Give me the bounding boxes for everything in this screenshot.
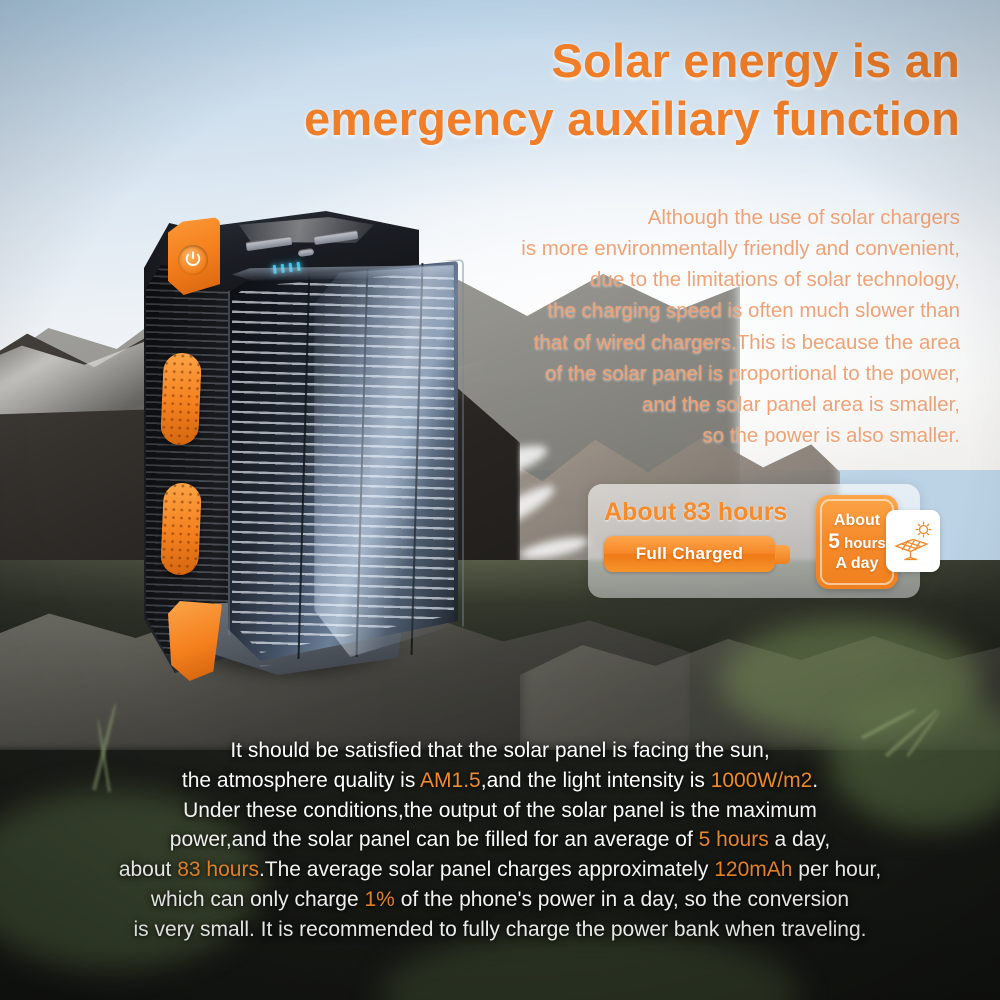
charge-time-title: About 83 hours — [604, 500, 804, 525]
intro-line-3: due to the limitations of solar technolo… — [370, 264, 960, 295]
outro-text: It should be satisfied that the solar pa… — [230, 739, 769, 762]
outro-line-7: is very small. It is recommended to full… — [20, 915, 980, 945]
outro-text: power,and the solar panel can be filled … — [170, 828, 699, 851]
outro-line-6: which can only charge 1% of the phone's … — [20, 885, 980, 915]
outro-text: which can only charge — [151, 888, 365, 911]
badge-hours-unit: hours — [844, 535, 886, 552]
charge-time-card: About 83 hours Full Charged About 5 hour… — [588, 484, 920, 598]
intro-line-7: and the solar panel area is smaller, — [370, 389, 960, 420]
outro-text: a day, — [769, 828, 830, 851]
power-button[interactable] — [178, 245, 208, 275]
outro-line-3: Under these conditions,the output of the… — [20, 796, 980, 826]
outro-text: Under these conditions,the output of the… — [183, 799, 817, 822]
battery-indicator: Full Charged — [604, 536, 789, 572]
outro-text: of the phone's power in a day, so the co… — [395, 888, 849, 911]
outro-highlight: 5 hours — [699, 828, 769, 851]
badge-line-a-day: A day — [836, 555, 879, 573]
outro-paragraph: It should be satisfied that the solar pa… — [20, 736, 980, 945]
outro-highlight: 1000W/m2 — [711, 769, 813, 792]
outro-line-5: about 83 hours.The average solar panel c… — [20, 855, 980, 885]
charge-time-block: About 83 hours Full Charged — [604, 500, 804, 572]
intro-line-4: the charging speed is often much slower … — [370, 295, 960, 326]
intro-paragraph: Although the use of solar chargersis mor… — [370, 202, 960, 451]
battery-label: Full Charged — [604, 536, 775, 572]
outro-text: is very small. It is recommended to full… — [133, 918, 866, 941]
outro-line-1: It should be satisfied that the solar pa… — [20, 736, 980, 766]
battery-terminal-nub — [776, 545, 790, 564]
headline-line-2: emergency auxiliary function — [110, 90, 960, 148]
outro-text: . — [812, 769, 818, 792]
badge-hours-value: 5 — [828, 530, 840, 553]
headline-line-1: Solar energy is an — [110, 32, 960, 90]
badge-line-about: About — [834, 512, 880, 530]
solar-panel-sun-icon — [893, 520, 933, 562]
outro-highlight: 120mAh — [714, 858, 792, 881]
outro-text: .The average solar panel charges approxi… — [259, 858, 714, 881]
outro-text: per hour, — [792, 858, 881, 881]
solar-icon-tile — [886, 510, 940, 572]
outro-text: the atmosphere quality is — [182, 769, 420, 792]
page-title: Solar energy is an emergency auxiliary f… — [110, 32, 960, 149]
power-button-icon — [184, 250, 202, 268]
grip-pad-upper — [160, 352, 202, 446]
intro-line-6: of the solar panel is proportional to th… — [370, 358, 960, 389]
intro-line-8: so the power is also smaller. — [370, 420, 960, 451]
intro-line-1: Although the use of solar chargers — [370, 202, 960, 233]
intro-line-2: is more environmentally friendly and con… — [370, 233, 960, 264]
outro-line-2: the atmosphere quality is AM1.5,and the … — [20, 766, 980, 796]
intro-line-5: that of wired chargers.This is because t… — [370, 327, 960, 358]
outro-highlight: 83 hours — [177, 858, 259, 881]
marketing-banner: Solar energy is an emergency auxiliary f… — [0, 0, 1000, 1000]
outro-text: about — [119, 858, 177, 881]
outro-line-4: power,and the solar panel can be filled … — [20, 825, 980, 855]
outro-highlight: AM1.5 — [420, 769, 481, 792]
outro-highlight: 1% — [365, 888, 395, 911]
grip-pad-lower — [160, 482, 202, 576]
outro-text: ,and the light intensity is — [481, 769, 711, 792]
badge-line-hours: 5 hours — [828, 529, 886, 554]
